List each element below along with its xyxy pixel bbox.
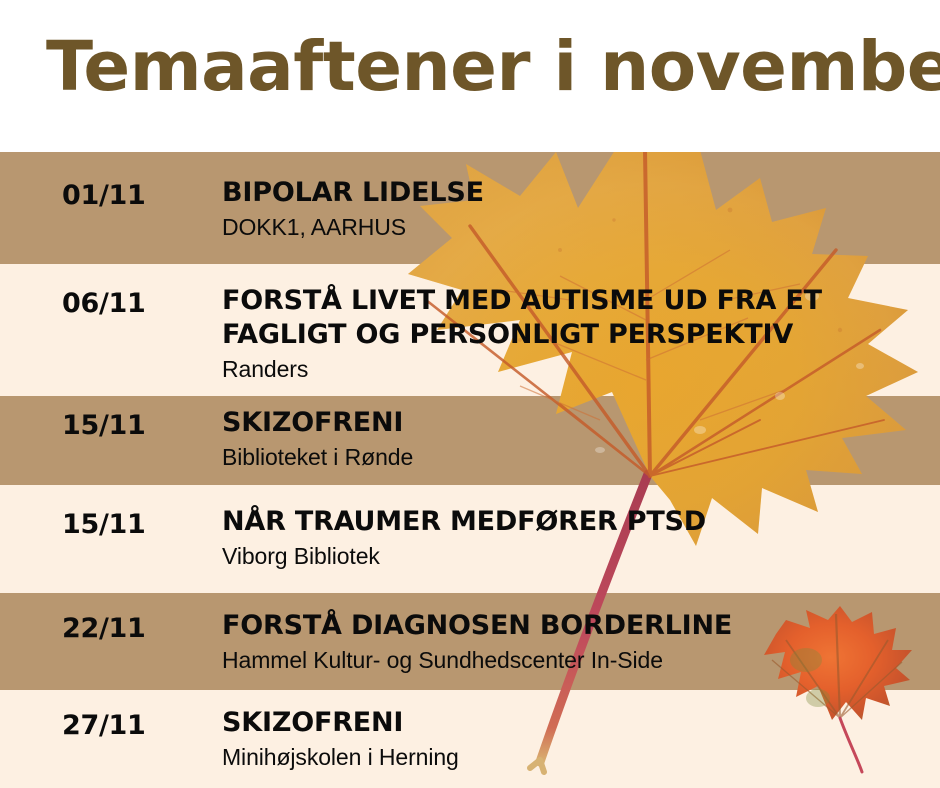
band-row-1 xyxy=(0,152,940,264)
band-row-5 xyxy=(0,593,940,690)
band-row-4 xyxy=(0,485,940,593)
poster-canvas: Temaaftener i november 01/11 BIPOLAR LID… xyxy=(0,0,940,788)
band-row-3 xyxy=(0,396,940,485)
band-row-6 xyxy=(0,690,940,788)
stripe-bands xyxy=(0,152,940,788)
band-row-2 xyxy=(0,264,940,396)
page-title: Temaaftener i november xyxy=(46,28,940,106)
title-area: Temaaftener i november xyxy=(0,0,940,152)
